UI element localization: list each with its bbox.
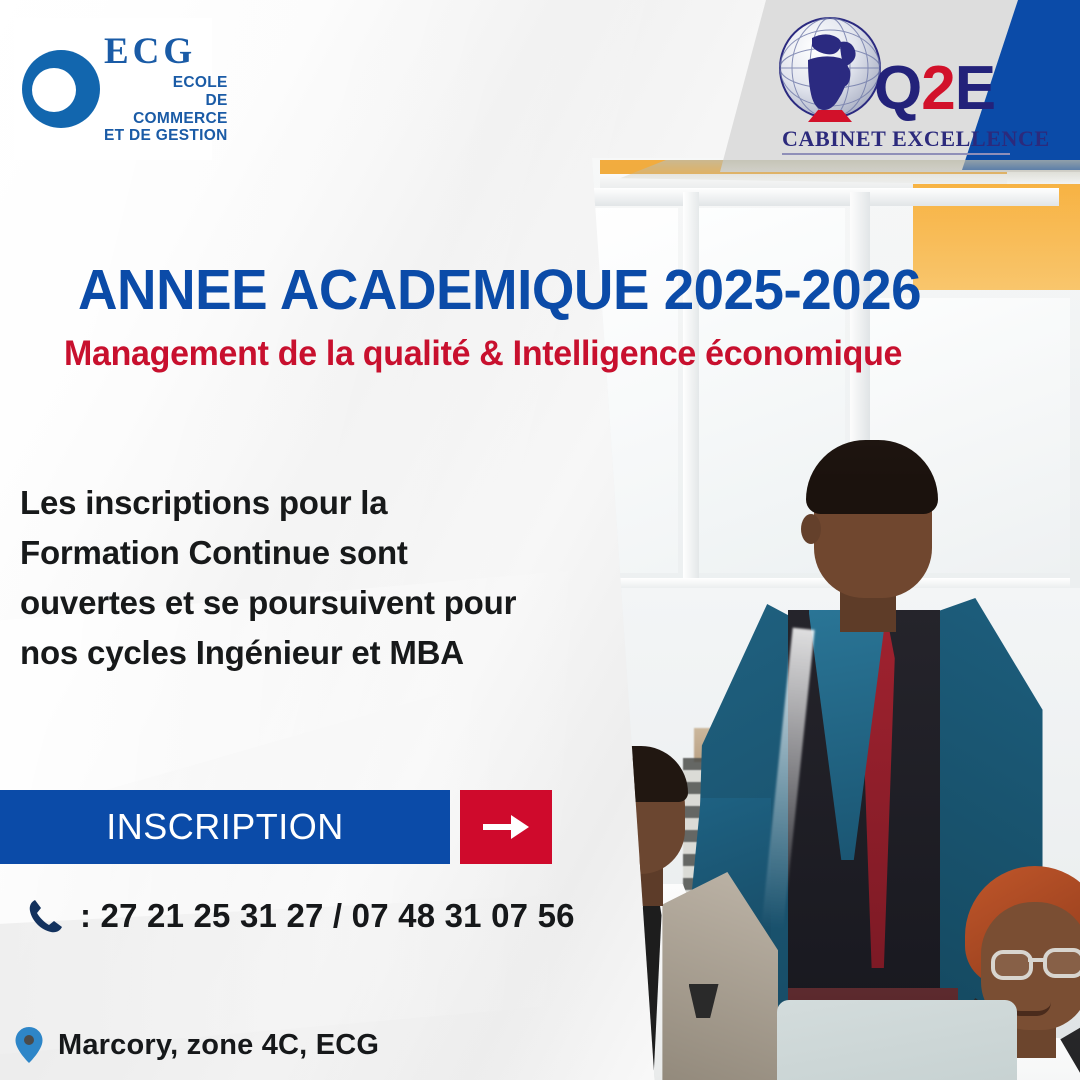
- ecg-tagline-line-1: ECOLE: [104, 74, 228, 92]
- ecg-tagline: ECOLE DE COMMERCE ET DE GESTION: [104, 74, 228, 146]
- q2e-letter-2: 2: [921, 54, 954, 123]
- q2e-tagline: CABINET EXCELLENCE: [782, 126, 1010, 155]
- address-contact[interactable]: Marcory, zone 4C, ECG: [14, 1026, 379, 1064]
- ecg-tagline-line-3: COMMERCE: [104, 110, 228, 128]
- poster-canvas: ECG ECOLE DE COMMERCE ET DE GESTION: [0, 0, 1080, 1080]
- ecg-logo-text: ECG ECOLE DE COMMERCE ET DE GESTION: [104, 33, 228, 146]
- location-pin-icon: [14, 1026, 44, 1064]
- address-text: Marcory, zone 4C, ECG: [58, 1029, 379, 1062]
- phone-icon: [26, 896, 66, 936]
- body-line-4: nos cycles Ingénieur et MBA: [20, 628, 580, 678]
- ecg-tagline-line-2: DE: [104, 92, 228, 110]
- inscription-button-label: INSCRIPTION: [106, 806, 344, 848]
- body-paragraph: Les inscriptions pour la Formation Conti…: [20, 478, 580, 679]
- ecg-tagline-line-4: ET DE GESTION: [104, 127, 228, 145]
- arrow-right-icon: [481, 811, 531, 843]
- inscription-arrow-button[interactable]: [460, 790, 552, 864]
- q2e-wordmark: Q2E: [874, 58, 995, 120]
- phone-contact[interactable]: : 27 21 25 31 27 / 07 48 31 07 56: [26, 896, 575, 936]
- body-line-3: ouvertes et se poursuivent pour: [20, 578, 580, 628]
- q2e-letter-e: E: [955, 54, 995, 123]
- ecg-ring-icon: [22, 50, 100, 128]
- ecg-acronym: ECG: [104, 33, 228, 70]
- page-title: ANNEE ACADEMIQUE 2025-2026: [78, 262, 921, 319]
- page-subtitle: Management de la qualité & Intelligence …: [64, 336, 902, 371]
- ecg-logo: ECG ECOLE DE COMMERCE ET DE GESTION: [14, 18, 212, 160]
- body-line-1: Les inscriptions pour la: [20, 478, 580, 528]
- globe-icon: [778, 16, 882, 134]
- body-line-2: Formation Continue sont: [20, 528, 580, 578]
- q2e-logo: Q2E CABINET EXCELLENCE: [778, 14, 1018, 162]
- inscription-button[interactable]: INSCRIPTION: [0, 790, 450, 864]
- q2e-letter-q: Q: [874, 54, 921, 123]
- phone-number: : 27 21 25 31 27 / 07 48 31 07 56: [80, 897, 575, 935]
